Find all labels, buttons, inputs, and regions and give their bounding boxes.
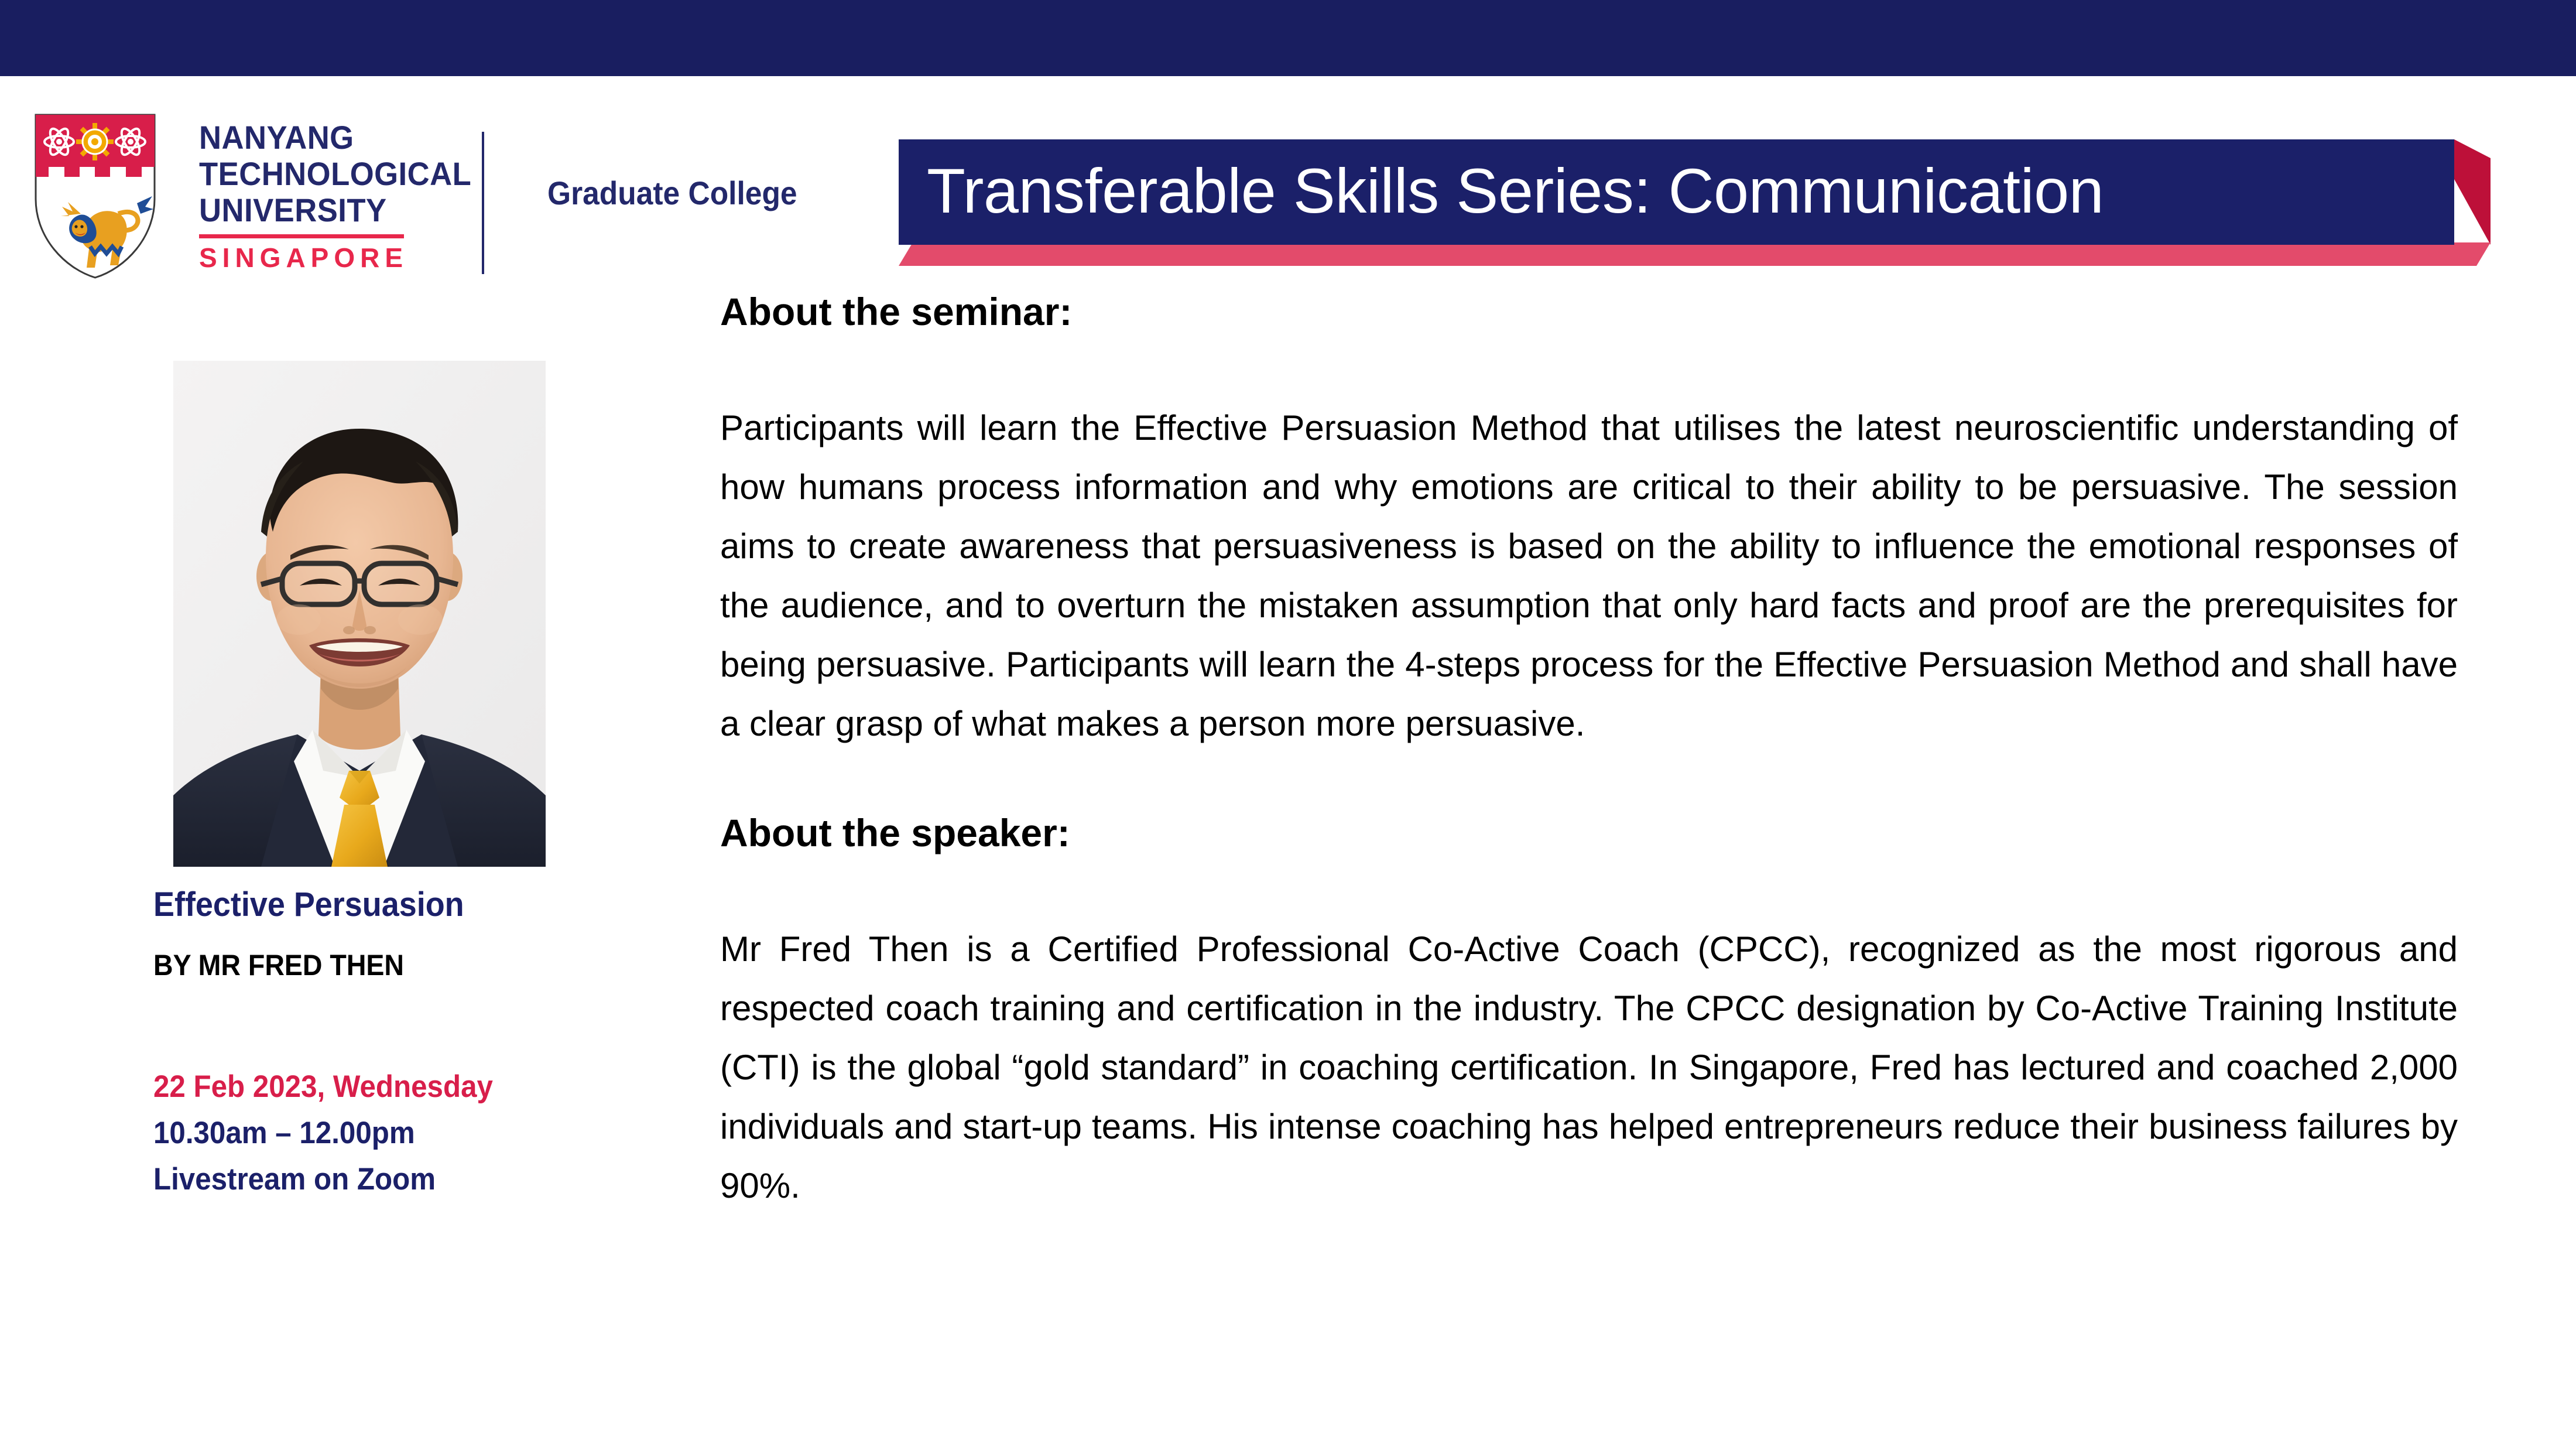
top-navy-bar [0,0,2576,76]
title-banner: Transferable Skills Series: Communicatio… [899,139,2503,265]
logo-divider [482,132,484,274]
graduate-college-label: Graduate College [547,176,797,211]
event-details: 22 Feb 2023, Wednesday 10.30am – 12.00pm… [153,1064,680,1202]
spacer-2 [720,753,2458,809]
main-content: About the seminar: Participants will lea… [720,288,2458,1215]
ntu-wordmark-line-2: TECHNOLOGICAL [199,156,436,192]
event-time: 10.30am – 12.00pm [153,1110,643,1156]
banner-shadow-right [2454,139,2491,245]
spacer-1 [720,335,2458,398]
ntu-wordmark-line-3: UNIVERSITY [199,192,436,228]
banner-title-text: Transferable Skills Series: Communicatio… [927,139,2449,245]
banner-shadow-bottom [899,242,2491,266]
speaker-photo [173,361,546,867]
ntu-wordmark-line-1: NANYANG [199,119,436,156]
ntu-logo-lockup: NANYANG TECHNOLOGICAL UNIVERSITY SINGAPO… [32,111,805,287]
event-date: 22 Feb 2023, Wednesday [153,1064,643,1110]
spacer-3 [720,856,2458,919]
speaker-body: Mr Fred Then is a Certified Professional… [720,919,2458,1215]
seminar-heading: About the seminar: [720,288,2458,335]
ntu-wordmark: NANYANG TECHNOLOGICAL UNIVERSITY SINGAPO… [199,119,451,272]
speaker-byline: BY MR FRED THEN [153,949,404,982]
ntu-crest-icon [32,111,158,281]
ntu-country-label: SINGAPORE [199,243,451,272]
speaker-heading: About the speaker: [720,809,2458,856]
ntu-wordmark-rule [199,234,404,238]
talk-title: Effective Persuasion [153,886,464,924]
event-platform: Livestream on Zoom [153,1156,643,1202]
seminar-body: Participants will learn the Effective Pe… [720,398,2458,753]
